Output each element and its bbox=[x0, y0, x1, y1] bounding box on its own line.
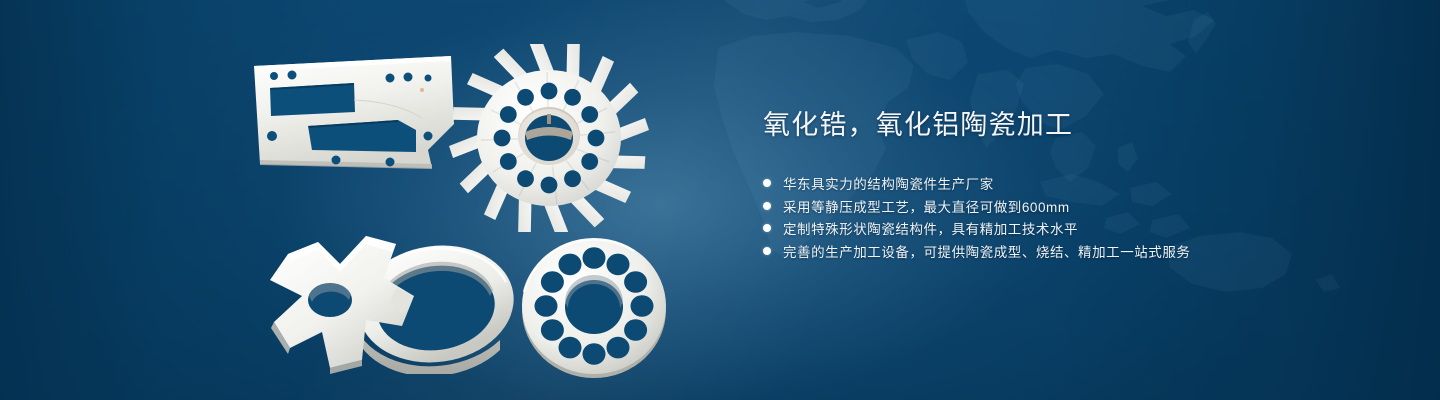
bullet-dot-icon bbox=[763, 224, 771, 232]
ceramic-mounting-plate bbox=[246, 52, 462, 176]
bullet-dot-icon bbox=[763, 247, 771, 255]
ceramic-bladed-impeller bbox=[448, 44, 650, 232]
bullet-dot-icon bbox=[763, 202, 771, 210]
feature-text: 完善的生产加工设备，可提供陶瓷成型、烧结、精加工一站式服务 bbox=[783, 241, 1190, 261]
bullet-dot-icon bbox=[763, 179, 771, 187]
feature-bullet-list: 华东具实力的结构陶瓷件生产厂家 采用等静压成型工艺，最大直径可做到600mm 定… bbox=[763, 172, 1363, 262]
list-item: 完善的生产加工设备，可提供陶瓷成型、烧结、精加工一站式服务 bbox=[763, 240, 1363, 263]
page-title: 氧化锆，氧化铝陶瓷加工 bbox=[763, 108, 1363, 142]
list-item: 华东具实力的结构陶瓷件生产厂家 bbox=[763, 172, 1363, 195]
feature-text: 采用等静压成型工艺，最大直径可做到600mm bbox=[783, 196, 1070, 216]
ceramic-perforated-disc bbox=[514, 230, 674, 382]
ceramic-cross-and-ring-group bbox=[244, 222, 526, 374]
banner-copy: 氧化锆，氧化铝陶瓷加工 华东具实力的结构陶瓷件生产厂家 采用等静压成型工艺，最大… bbox=[763, 108, 1363, 262]
list-item: 定制特殊形状陶瓷结构件，具有精加工技术水平 bbox=[763, 217, 1363, 240]
ceramic-product-cluster bbox=[226, 44, 726, 374]
feature-text: 定制特殊形状陶瓷结构件，具有精加工技术水平 bbox=[783, 218, 1078, 238]
ceramic-products-hero-banner: 氧化锆，氧化铝陶瓷加工 华东具实力的结构陶瓷件生产厂家 采用等静压成型工艺，最大… bbox=[0, 0, 1440, 400]
feature-text: 华东具实力的结构陶瓷件生产厂家 bbox=[783, 173, 994, 193]
list-item: 采用等静压成型工艺，最大直径可做到600mm bbox=[763, 195, 1363, 218]
